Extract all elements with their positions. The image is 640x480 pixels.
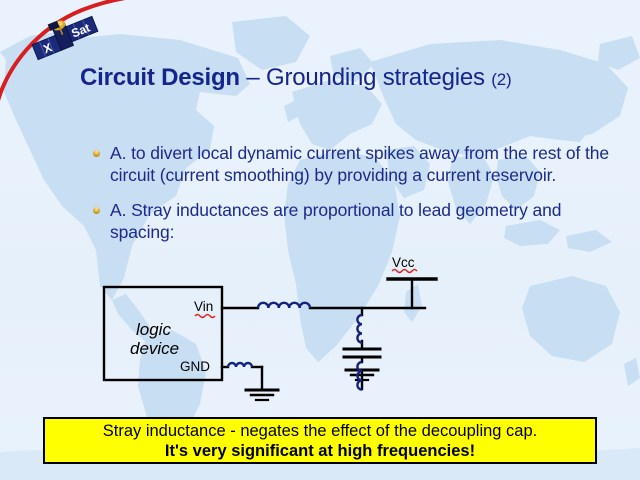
callout-box: Stray inductance - negates the effect of…	[43, 417, 597, 464]
series-inductor-gnd	[228, 363, 252, 367]
shunt-inductor-top	[357, 315, 362, 343]
spellcheck-underline-vin	[195, 315, 215, 318]
logic-device-label-line1: logic	[136, 320, 171, 340]
spellcheck-squiggles	[195, 270, 417, 318]
pin-label-gnd: GND	[180, 359, 210, 374]
pin-label-vin: Vin	[194, 299, 213, 314]
callout-line-2: It's very significant at high frequencie…	[165, 441, 475, 461]
rail-label-vcc: Vcc	[392, 255, 415, 270]
logic-device-label-line2: device	[130, 339, 179, 359]
series-inductor-vin	[258, 303, 310, 308]
callout-line-1: Stray inductance - negates the effect of…	[103, 421, 538, 441]
slide-canvas: X Sat Circuit Design – Grounding strateg…	[0, 0, 640, 480]
circuit-diagram	[0, 0, 640, 480]
